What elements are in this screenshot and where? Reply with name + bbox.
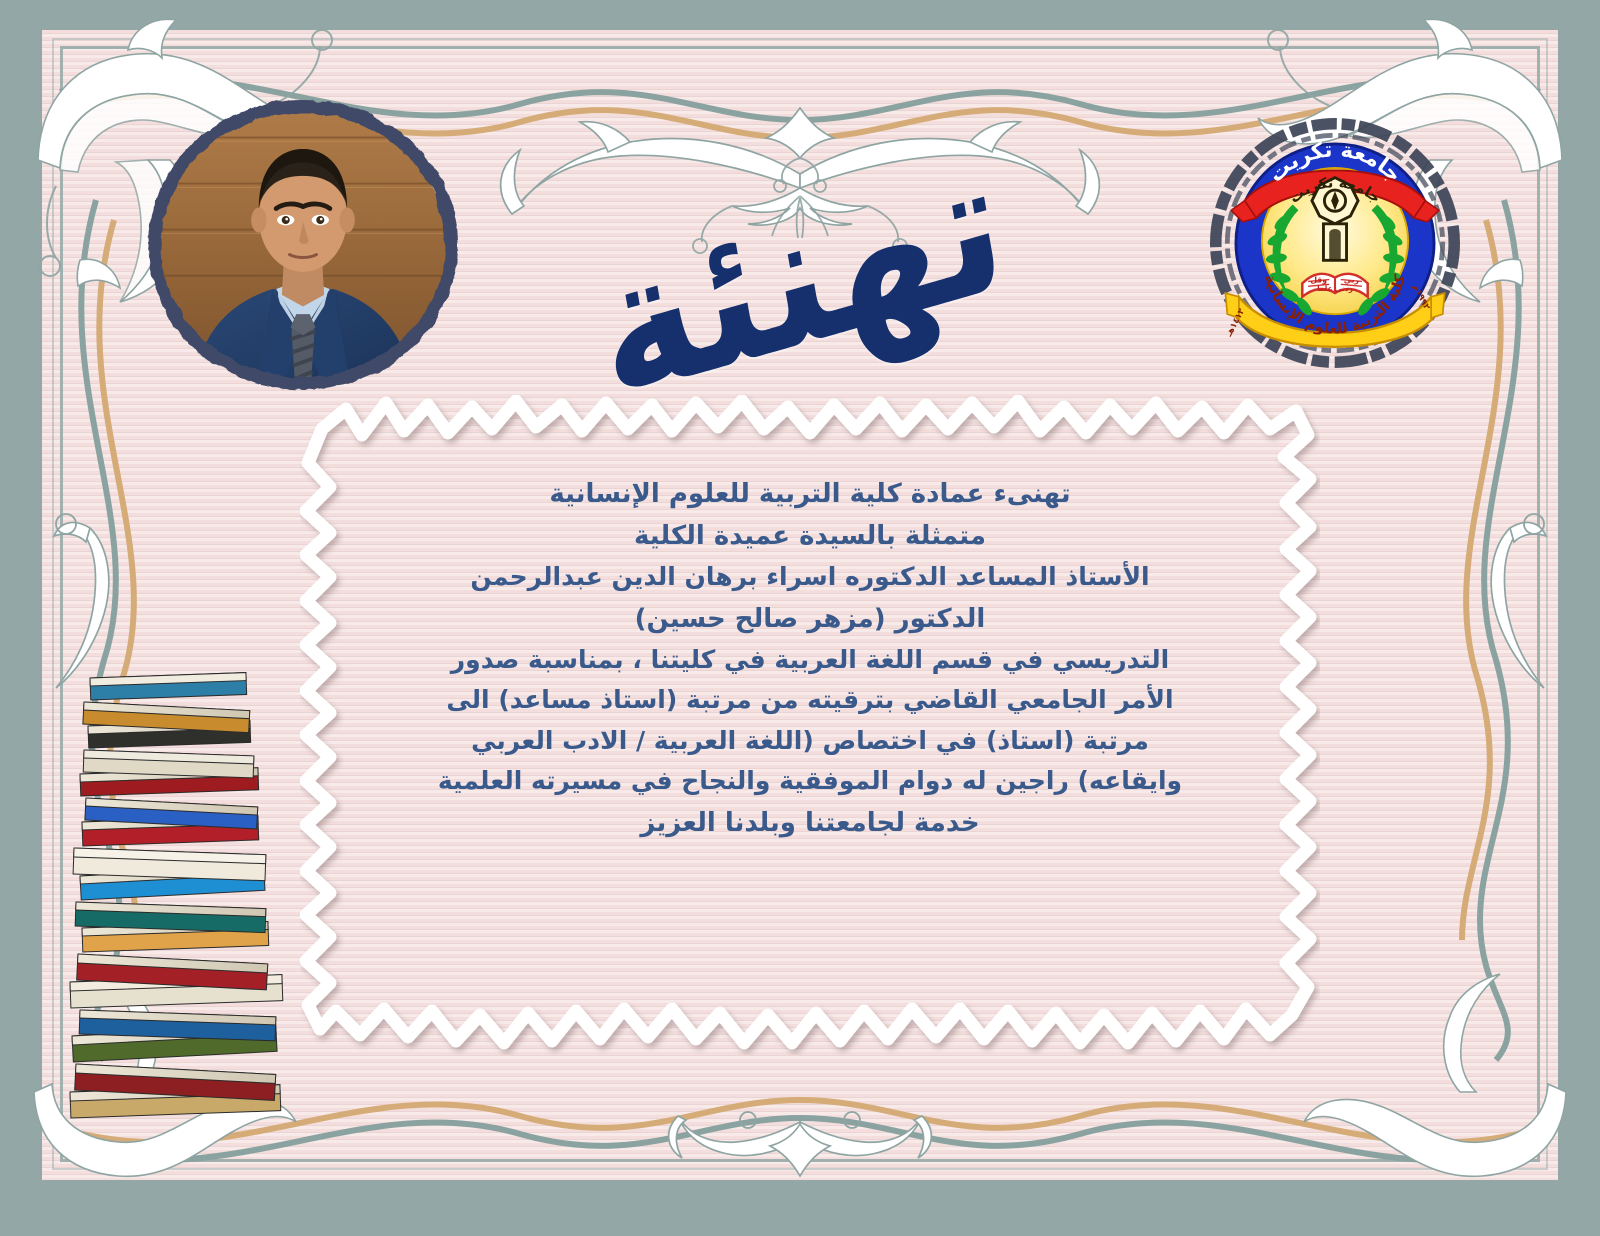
message-line-5: التدريسي في قسم اللغة العربية في كليتنا … bbox=[358, 640, 1262, 681]
logo-book-motto-left: ربي bbox=[1344, 275, 1359, 284]
portrait-frame-ring bbox=[148, 100, 458, 390]
message-line-8: وايقاعه) راجين له دوام الموفقية والنجاح … bbox=[358, 761, 1262, 802]
message-line-3: الأستاذ المساعد الدكتوره اسراء برهان الد… bbox=[358, 557, 1262, 598]
message-line-2: متمثلة بالسيدة عميدة الكلية bbox=[358, 515, 1262, 557]
message-line-7: مرتبة (استاذ) في اختصاص (اللغة العربية /… bbox=[358, 721, 1262, 762]
message-text-block: تهنىء عمادة كلية التربية للعلوم الإنساني… bbox=[358, 473, 1262, 1015]
message-panel: تهنىء عمادة كلية التربية للعلوم الإنساني… bbox=[300, 395, 1320, 1055]
book-stack-illustration bbox=[60, 640, 310, 1140]
message-line-6: الأمر الجامعي القاضي بترقيته من مرتبة (ا… bbox=[358, 680, 1262, 721]
honoree-portrait bbox=[148, 100, 458, 390]
university-logo: جامعة تكريت bbox=[1210, 118, 1460, 368]
message-line-9: خدمة لجامعتنا وبلدنا العزيز bbox=[358, 802, 1262, 844]
logo-book-motto-bottom: زدني علما bbox=[1317, 284, 1353, 293]
certificate-canvas: جامعة تكريت bbox=[0, 0, 1600, 1236]
calligraphy-title-text: تهنئة bbox=[583, 128, 1017, 428]
calligraphy-title: تهنئة bbox=[590, 148, 1010, 408]
logo-book-motto-right: وقل bbox=[1310, 275, 1327, 284]
message-line-1: تهنىء عمادة كلية التربية للعلوم الإنساني… bbox=[358, 473, 1262, 515]
message-line-4-honoree: الدكتور (مزهر صالح حسين) bbox=[358, 598, 1262, 640]
